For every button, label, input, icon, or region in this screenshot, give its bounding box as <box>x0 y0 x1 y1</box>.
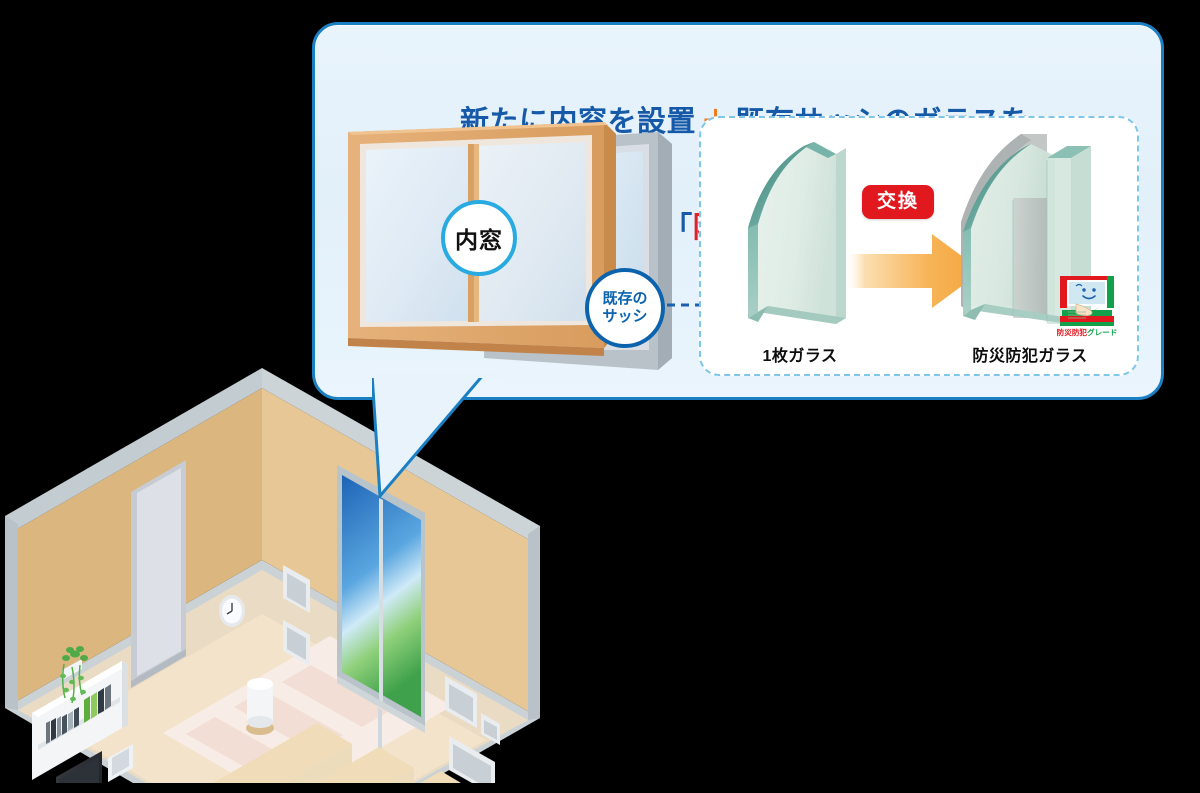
callout-bubble-tail <box>372 372 512 498</box>
swap-badge: 交換 <box>862 185 934 219</box>
bousai-bouhan-grade-badge: 防災防犯グレード <box>1056 272 1118 338</box>
callout-title: 新たに内窓を設置＋既存サッシのガラスを 「防災防犯ガラス」に交換 <box>330 34 1150 120</box>
existing-sash-badge: 既存の サッシ <box>585 268 665 348</box>
room-door <box>131 460 186 688</box>
inner-window-badge-label: 内窓 <box>455 221 503 255</box>
single-glass-label: 1枚ガラス <box>730 342 870 366</box>
existing-sash-badge-line2: サッシ <box>602 308 647 325</box>
existing-sash-badge-line1: 既存の <box>602 290 647 307</box>
illustration-canvas: 新たに内窓を設置＋既存サッシのガラスを 「防災防犯ガラス」に交換 <box>0 0 1200 793</box>
svg-text:防災防犯グレード: 防災防犯グレード <box>1057 327 1118 337</box>
table-lamp-left <box>246 678 274 735</box>
laminated-glass-label: 防災防犯ガラス <box>930 342 1130 366</box>
inner-window-badge: 内窓 <box>441 200 517 276</box>
wall-clock <box>219 595 245 627</box>
